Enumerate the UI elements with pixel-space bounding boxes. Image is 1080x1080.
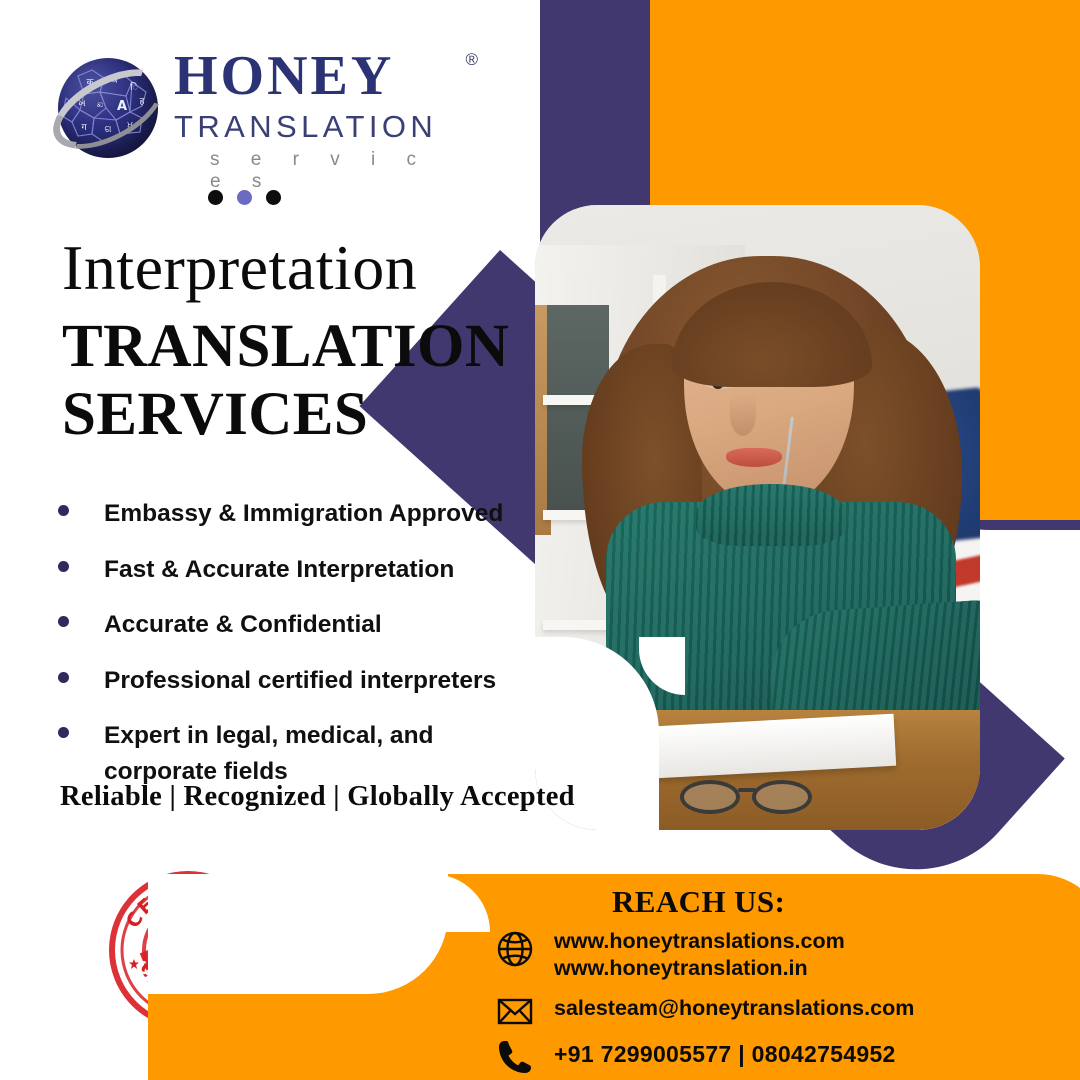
- tagline: Reliable | Recognized | Globally Accepte…: [60, 781, 575, 813]
- headline-bold-line1: TRANSLATION: [62, 314, 532, 380]
- list-item: Embassy & Immigration Approved: [58, 496, 528, 532]
- brand-name: HONEY: [174, 48, 394, 104]
- headline-bold-line2: SERVICES: [62, 382, 532, 448]
- list-item-label: Embassy & Immigration Approved: [104, 496, 503, 532]
- reach-panel-notch: [148, 874, 448, 994]
- dot-1-icon: [208, 190, 223, 205]
- brand-line-services: s e r v i c e s: [174, 149, 454, 193]
- list-item-label: Accurate & Confidential: [104, 607, 382, 643]
- lips: [726, 448, 782, 467]
- headline-block: Interpretation TRANSLATION SERVICES: [62, 236, 532, 448]
- list-item: Accurate & Confidential: [58, 607, 528, 643]
- glasses-bridge: [738, 788, 756, 792]
- list-item: Professional certified interpreters: [58, 663, 528, 699]
- contact-email-row[interactable]: salesteam@honeytranslations.com: [494, 990, 914, 1032]
- brand-logo[interactable]: क অ ि ખ ಖ A ह ग ଗ ਖ HONEY ®: [52, 48, 452, 178]
- list-item-label: Fast & Accurate Interpretation: [104, 552, 454, 588]
- bullet-dot-icon: [58, 616, 69, 627]
- website-secondary[interactable]: www.honeytranslation.in: [554, 955, 845, 982]
- poster-canvas: क অ ि ખ ಖ A ह ग ଗ ਖ HONEY ®: [0, 0, 1080, 1080]
- bullet-dot-icon: [58, 561, 69, 572]
- registered-trademark-icon: ®: [465, 50, 478, 70]
- contact-website-text: www.honeytranslations.com www.honeytrans…: [554, 928, 845, 982]
- hero-photo: [535, 205, 980, 830]
- contact-phone-text[interactable]: +91 7299005577 | 08042754952: [554, 1036, 896, 1068]
- bullet-dot-icon: [58, 672, 69, 683]
- nose: [730, 394, 756, 436]
- contact-website-row[interactable]: www.honeytranslations.com www.honeytrans…: [494, 928, 845, 982]
- lens-left: [680, 780, 740, 814]
- globe-icon: [494, 928, 536, 970]
- dot-3-icon: [266, 190, 281, 205]
- reach-us-title: REACH US:: [612, 884, 785, 920]
- list-item: Fast & Accurate Interpretation: [58, 552, 528, 588]
- phone-icon: [494, 1036, 536, 1078]
- bullet-dot-icon: [58, 505, 69, 516]
- decorative-dots: [208, 190, 281, 205]
- eyeglasses: [680, 774, 840, 818]
- list-item-label: Professional certified interpreters: [104, 663, 496, 699]
- contact-phone-row[interactable]: +91 7299005577 | 08042754952: [494, 1036, 896, 1078]
- list-item-label: Expert in legal, medical, and corporate …: [104, 718, 449, 789]
- dot-2-icon: [237, 190, 252, 205]
- brand-wordmark: HONEY ® TRANSLATION s e r v i c e s: [174, 48, 454, 193]
- list-item: Expert in legal, medical, and corporate …: [58, 718, 528, 789]
- feature-list: Embassy & Immigration Approved Fast & Ac…: [58, 496, 528, 809]
- bullet-dot-icon: [58, 727, 69, 738]
- brand-line-translation: TRANSLATION: [174, 109, 454, 145]
- headline-script: Interpretation: [62, 236, 532, 300]
- website-primary[interactable]: www.honeytranslations.com: [554, 928, 845, 955]
- envelope-icon: [494, 990, 536, 1032]
- sweater-collar: [696, 484, 846, 546]
- lens-right: [752, 780, 812, 814]
- contact-email-text[interactable]: salesteam@honeytranslations.com: [554, 990, 914, 1021]
- globe-logo-icon: क অ ि ખ ಖ A ह ग ଗ ਖ: [52, 52, 164, 164]
